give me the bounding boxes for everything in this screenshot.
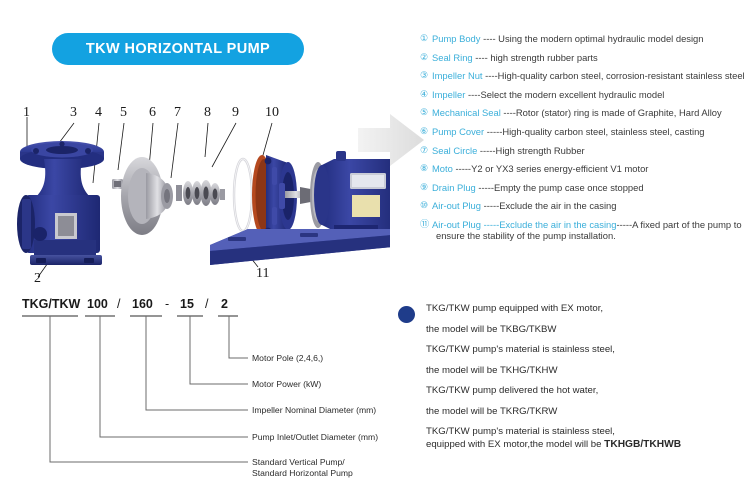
model-note-line: TKG/TKW pump delivered the hot water, [426,385,756,396]
page-title: TKW HORIZONTAL PUMP [86,41,270,57]
legend-term: Pump Body [432,33,480,44]
model-note-line: TKG/TKW pump's material is stainless ste… [426,344,756,355]
legend-number: ⑦ [420,145,432,156]
legend-term: Drain Plug [432,182,476,193]
legend-item: ③ Impeller Nut ----High-quality carbon s… [420,70,756,81]
legend-separator: ---- [473,52,491,63]
legend-number: ② [420,52,432,63]
code-part-power: 15 [180,297,194,311]
legend-item-last: ⑪ Air-out Plug -----Exclude the air in t… [420,219,756,241]
model-note-line: the model will be TKBG/TKBW [426,324,756,335]
bullet-dot-icon [398,306,415,323]
legend-description: high strength rubber parts [490,52,597,63]
naming-label-motor-power: Motor Power (kW) [252,379,321,389]
legend-separator: ---- [480,33,498,44]
legend-term: Seal Ring [432,52,473,63]
callout-4: 4 [95,105,102,120]
parts-legend-list: ① Pump Body ---- Using the modern optima… [420,33,756,249]
code-part-pole: 2 [221,297,228,311]
flow-arrow-icon [356,104,428,176]
model-note-final-prefix: equipped with EX motor,the model will be [426,439,604,450]
legend-item: ⑤ Mechanical Seal ----Rotor (stator) rin… [420,107,756,118]
legend-term: Impeller [432,89,465,100]
code-part-prefix: TKG/TKW [22,297,81,311]
callout-9: 9 [232,105,239,120]
legend-number: ⑥ [420,126,432,137]
callout-7: 7 [174,105,181,120]
legend-description: Rotor (stator) ring is made of Graphite,… [516,107,722,118]
legend-number: ⑪ [420,219,432,230]
part-pump-body [17,141,104,265]
callout-2: 2 [34,271,41,285]
part-impeller [121,157,173,235]
legend-description: A fixed part of the pump to [632,219,741,230]
exploded-pump-diagram: 1 2 3 4 5 6 7 8 9 10 11 [0,95,390,285]
legend-description: High-quality carbon steel, stainless ste… [502,126,704,137]
code-part-inlet: 100 [87,297,108,311]
legend-item: ⑧ Moto -----Y2 or YX3 series energy-effi… [420,163,756,174]
code-separator-3: / [205,297,209,311]
naming-label-motor-pole: Motor Pole (2,4,6,) [252,353,323,363]
model-note-line: the model will be TKRG/TKRW [426,406,756,417]
naming-label-standard-vert: Standard Vertical Pump/ [252,457,345,467]
legend-item: ④ Impeller ----Select the modern excelle… [420,89,756,100]
legend-separator: ---- [483,70,498,81]
legend-description: Y2 or YX3 series energy-efficient V1 mot… [471,163,648,174]
legend-separator: ----- [476,182,494,193]
legend-separator: ----- [481,219,499,230]
legend-item: ⑥ Pump Cover -----High-quality carbon st… [420,126,756,137]
code-separator-1: / [117,297,121,311]
legend-description-blue: Exclude the air in the casing [499,219,616,230]
callout-1: 1 [23,105,30,120]
legend-number: ⑨ [420,182,432,193]
legend-description-line2: ensure the stability of the pump install… [432,230,756,241]
legend-item: ⑩ Air-out Plug -----Exclude the air in t… [420,200,756,211]
part-seal-circle [234,159,252,231]
legend-item: ⑨ Drain Plug -----Empty the pump case on… [420,182,756,193]
model-note-line-final: equipped with EX motor,the model will be… [426,439,756,450]
legend-description: High strength Rubber [496,145,585,156]
legend-item: ② Seal Ring ---- high strength rubber pa… [420,52,756,63]
callout-8: 8 [204,105,211,120]
model-note-final-code: TKHGB/TKHWB [604,439,681,450]
legend-description: High-quality carbon steel, corrosion-res… [498,70,745,81]
model-note-line: TKG/TKW pump equipped with EX motor, [426,303,756,314]
model-note-line: the model will be TKHG/TKHW [426,365,756,376]
legend-separator: ----- [453,163,471,174]
legend-item: ① Pump Body ---- Using the modern optima… [420,33,756,44]
callout-5: 5 [120,105,127,120]
part-impeller-nut [112,179,123,189]
callout-10: 10 [265,105,279,120]
naming-label-standard-horiz: Standard Horizontal Pump [252,468,353,478]
legend-separator-2: ----- [616,219,632,230]
legend-description: Using the modern optimal hydraulic model… [498,33,703,44]
page-title-banner: TKW HORIZONTAL PUMP [52,33,304,65]
legend-separator: ----- [481,200,499,211]
legend-number: ④ [420,89,432,100]
legend-description: Select the modern excellent hydraulic mo… [480,89,664,100]
model-note-line: TKG/TKW pump's material is stainless ste… [426,426,756,437]
legend-number: ① [420,33,432,44]
legend-term: Pump Cover [432,126,484,137]
naming-label-inlet-dia: Pump Inlet/Outlet Diameter (mm) [252,432,378,442]
legend-term: Air-out Plug [432,200,481,211]
legend-description: Empty the pump case once stopped [494,182,644,193]
code-part-impeller: 160 [132,297,153,311]
legend-item: ⑦ Seal Circle -----High strength Rubber [420,145,756,156]
legend-number: ⑤ [420,107,432,118]
legend-separator: ---- [465,89,480,100]
legend-description: Exclude the air in the casing [499,200,616,211]
callout-3: 3 [70,105,77,120]
legend-separator: ---- [501,107,516,118]
callout-11: 11 [256,266,269,281]
legend-number: ⑩ [420,200,432,211]
legend-term: Impeller Nut [432,70,483,81]
naming-label-impeller-dia: Impeller Nominal Diameter (mm) [252,405,376,415]
legend-term: Mechanical Seal [432,107,501,118]
legend-term: Air-out Plug [432,219,481,230]
pump-spec-sheet: TKW HORIZONTAL PUMP [0,0,756,500]
model-variant-notes: TKG/TKW pump equipped with EX motor, the… [398,303,756,460]
model-code-naming-diagram: TKG/TKW 100 / 160 - 15 / 2 [0,292,392,500]
callout-6: 6 [149,105,156,120]
legend-term: Moto [432,163,453,174]
legend-number: ③ [420,70,432,81]
legend-separator: ----- [484,126,502,137]
legend-term: Seal Circle [432,145,477,156]
naming-leader-lines [50,316,248,462]
legend-separator: ----- [477,145,495,156]
code-separator-2: - [165,297,169,311]
part-base-plate [210,229,390,265]
part-mechanical-seal [176,180,225,206]
legend-number: ⑧ [420,163,432,174]
